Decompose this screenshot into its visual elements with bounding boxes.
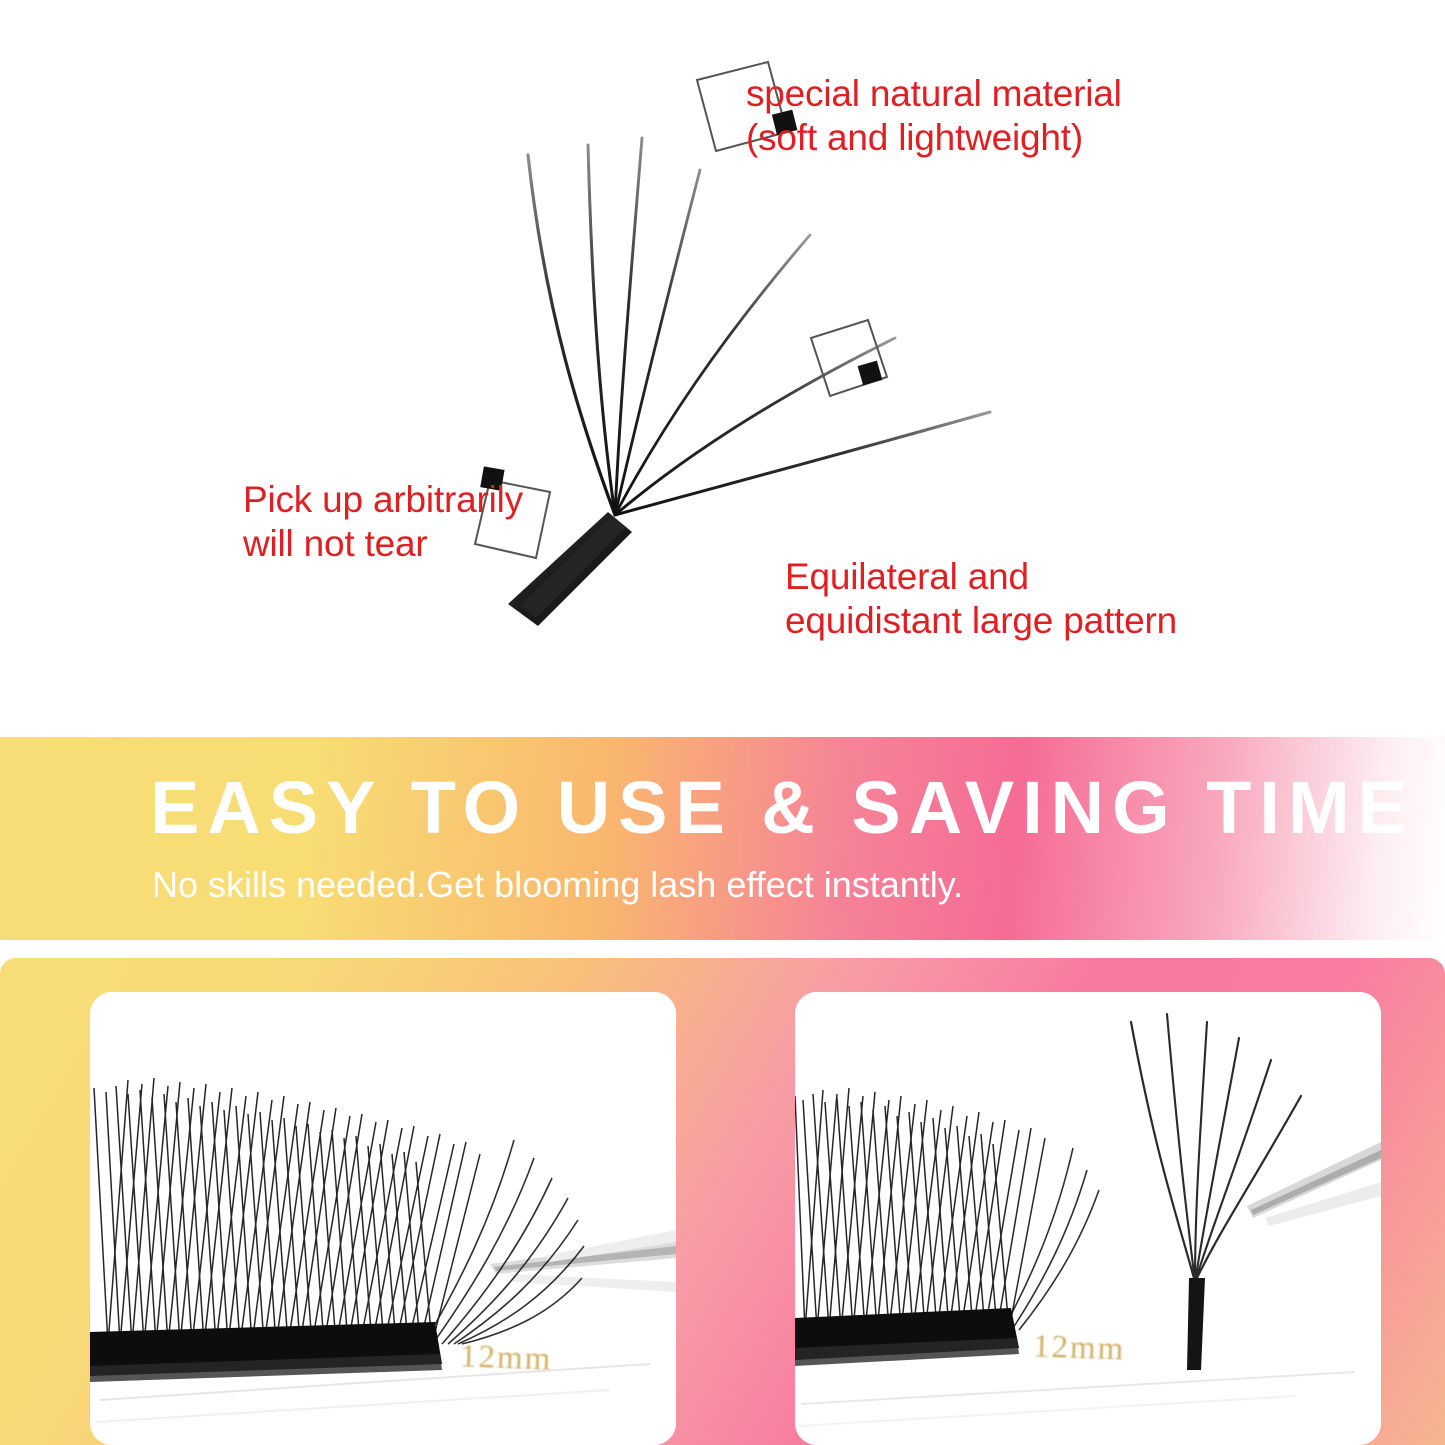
feature-diagram-section: special natural material (soft and light… xyxy=(0,0,1445,735)
callout-marker-middle xyxy=(811,320,887,396)
lash-size-label: 12mm xyxy=(1032,1328,1126,1368)
callout-pick-up: Pick up arbitrarily will not tear xyxy=(243,478,523,567)
photo-card-fan-pickup[interactable]: 12mm xyxy=(795,992,1381,1445)
fan-base xyxy=(508,512,632,626)
lash-size-label: 12mm xyxy=(459,1338,553,1378)
promo-banner: EASY TO USE & SAVING TIME No skills need… xyxy=(0,737,1445,940)
photo-gallery-frame: 12mm xyxy=(0,958,1445,1445)
product-infographic: special natural material (soft and light… xyxy=(0,0,1445,1445)
callout-equilateral: Equilateral and equidistant large patter… xyxy=(785,555,1177,644)
callout-special-material: special natural material (soft and light… xyxy=(746,72,1122,161)
fan-pickup-photo xyxy=(795,992,1381,1445)
promo-banner-subtitle: No skills needed.Get blooming lash effec… xyxy=(0,867,1445,903)
photo-card-lash-tray[interactable]: 12mm xyxy=(90,992,676,1445)
promo-banner-title: EASY TO USE & SAVING TIME xyxy=(0,771,1445,845)
lash-tray-photo xyxy=(90,992,676,1445)
